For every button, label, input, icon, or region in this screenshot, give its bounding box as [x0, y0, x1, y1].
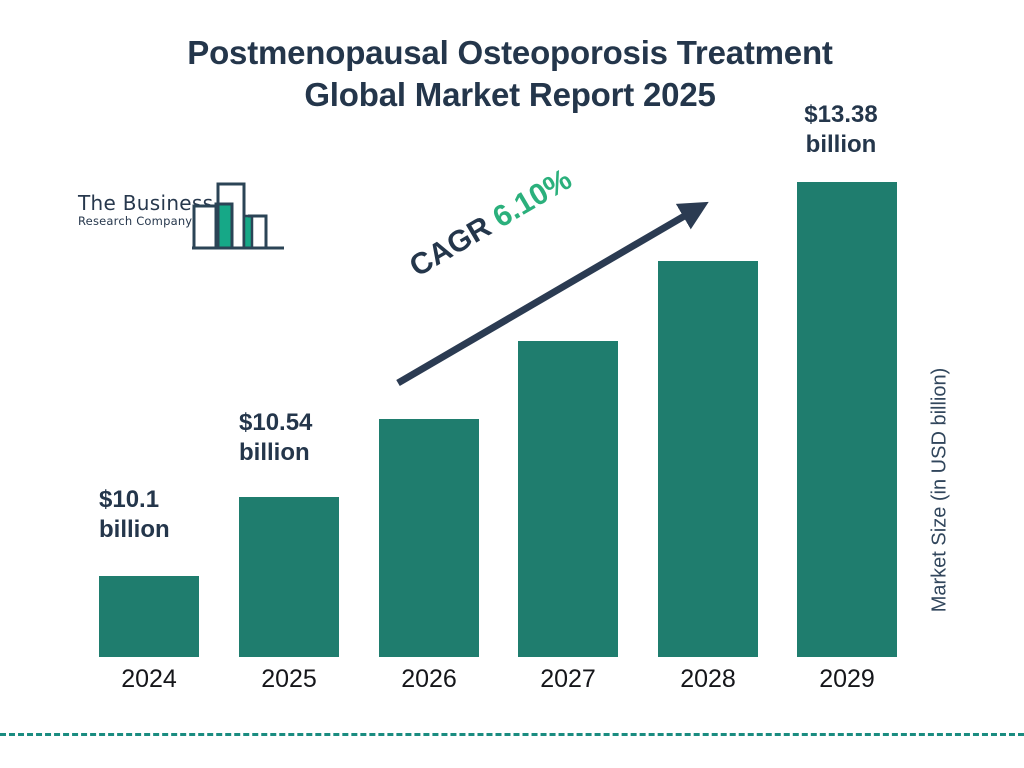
x-tick-2024: 2024 [89, 665, 209, 694]
bar-2027 [518, 341, 618, 657]
bar-2024 [99, 576, 199, 657]
y-axis-title: Market Size (in USD billion) [926, 320, 954, 660]
bar-value-2029-line1: $13.38 [786, 100, 896, 130]
bar-value-2029-line2: billion [786, 130, 896, 160]
bar-2025 [239, 497, 339, 657]
x-tick-2025: 2025 [229, 665, 349, 694]
bar-chart-plot: $10.1 billion $10.54 billion $13.38 bill… [0, 0, 1024, 768]
bar-2028 [658, 261, 758, 657]
x-tick-2027: 2027 [508, 665, 628, 694]
bar-value-2024: $10.1 billion [99, 485, 170, 545]
x-tick-2029: 2029 [787, 665, 907, 694]
chart-page: Postmenopausal Osteoporosis Treatment Gl… [0, 0, 1024, 768]
bar-value-2024-line1: $10.1 [99, 485, 170, 515]
y-axis-title-text: Market Size (in USD billion) [929, 368, 952, 613]
x-tick-2028: 2028 [648, 665, 768, 694]
x-tick-2026: 2026 [369, 665, 489, 694]
bar-value-2025-line2: billion [239, 438, 312, 468]
bar-value-2025: $10.54 billion [239, 408, 312, 468]
bar-2026 [379, 419, 479, 657]
bar-value-2029: $13.38 billion [786, 100, 896, 160]
bar-value-2024-line2: billion [99, 515, 170, 545]
bar-2029 [797, 182, 897, 657]
bottom-divider [0, 733, 1024, 736]
bar-value-2025-line1: $10.54 [239, 408, 312, 438]
